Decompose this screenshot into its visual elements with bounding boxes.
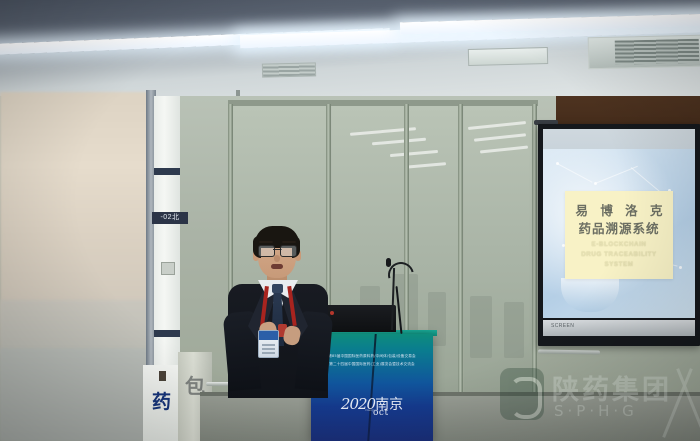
eyebrow	[259, 241, 273, 243]
badge-header	[259, 331, 278, 340]
glass-reflection	[474, 133, 526, 141]
network-node	[556, 162, 559, 165]
ceiling	[0, 0, 700, 104]
network-node	[679, 266, 682, 269]
projection-screen: 易 博 洛 克 药品溯源系统 E-BLOCKCHAIN DRUG TRACEAB…	[538, 124, 700, 346]
slide-title-card: 易 博 洛 克 药品溯源系统 E-BLOCKCHAIN DRUG TRACEAB…	[565, 191, 673, 279]
glass-reflection	[404, 162, 446, 169]
background-silhouette	[504, 302, 524, 358]
column-band	[154, 168, 180, 175]
ceiling-panel	[468, 47, 548, 66]
glass-mullion	[532, 104, 537, 410]
wall-sign-text: 药	[143, 387, 181, 414]
screen-bottom-bar: SCREEN	[543, 320, 695, 336]
podium-logo-city-en: Nanjing	[311, 408, 433, 412]
podium-seam	[367, 334, 376, 441]
eyeglasses-icon	[258, 245, 297, 255]
photo-scene: -02北 药 包 易 博 洛	[0, 0, 700, 441]
glass-reflection	[390, 150, 438, 157]
screen-surface: 易 博 洛 克 药品溯源系统 E-BLOCKCHAIN DRUG TRACEAB…	[543, 129, 695, 318]
air-conditioner-unit	[588, 35, 700, 70]
glasses-lens	[280, 245, 297, 257]
slide-subtitle-en-1: E-BLOCKCHAIN	[565, 241, 673, 248]
glass-reflection	[480, 145, 528, 153]
network-line	[631, 167, 661, 192]
watermark-brand-en: S·P·H·G	[554, 402, 638, 420]
network-node	[594, 182, 597, 185]
foreground-surface-left	[0, 348, 165, 441]
necktie-knot	[272, 284, 283, 293]
slide-subtitle-en-2: DRUG TRACEABILITY	[565, 251, 673, 258]
glass-panel	[464, 106, 536, 406]
speaker-person	[222, 226, 334, 398]
laptop[interactable]	[324, 305, 396, 332]
slide-subtitle-en-3: SYSTEM	[565, 261, 673, 268]
badge-text-line	[262, 344, 275, 346]
name-badge	[258, 330, 279, 358]
screen-brand-label: SCREEN	[551, 323, 574, 329]
mouth	[271, 264, 283, 269]
glass-mullion	[458, 104, 463, 410]
air-vent-icon	[262, 62, 316, 77]
badge-text-line	[262, 352, 275, 354]
ac-grille	[615, 39, 700, 65]
glass-reflection	[372, 138, 426, 146]
watermark-logo: 陕药集团 S·P·H·G	[500, 366, 700, 428]
slide-headline-cn-2: 药品溯源系统	[565, 218, 673, 237]
room-marker-sign: -02北	[152, 212, 188, 224]
slide-headline-cn-1: 易 博 洛 克	[565, 200, 673, 219]
eyebrow	[282, 241, 296, 243]
wall-outlet	[161, 262, 175, 275]
glasses-lens	[258, 245, 275, 257]
column-band	[154, 330, 180, 337]
badge-text-line	[262, 348, 275, 350]
sign-marker-icon	[159, 371, 166, 381]
nose	[274, 255, 280, 262]
slide-content: 易 博 洛 克 药品溯源系统 E-BLOCKCHAIN DRUG TRACEAB…	[543, 149, 695, 318]
background-silhouette	[470, 296, 492, 358]
microphone-head-icon	[386, 258, 391, 267]
network-line	[557, 163, 593, 183]
white-column	[154, 96, 180, 396]
glass-reflection	[468, 121, 526, 130]
slide-background-graphic	[561, 278, 619, 312]
wall-sign-left: 药	[143, 365, 181, 441]
sphg-emblem-icon	[500, 368, 544, 420]
